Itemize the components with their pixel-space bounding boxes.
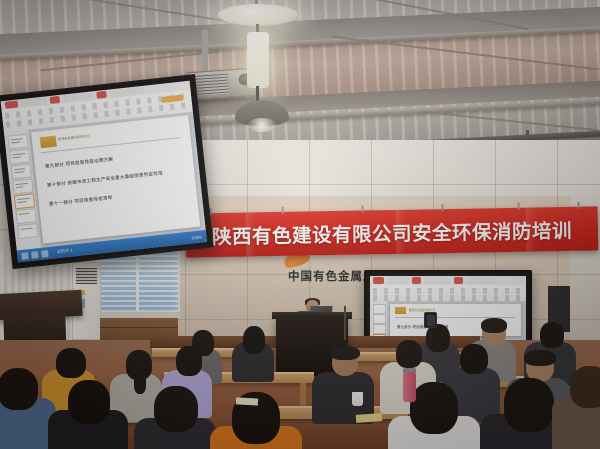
banner-title: 陕西有色建设有限公司安全环保消防培训 xyxy=(186,214,598,250)
event-banner: 陕西有色建设有限公司安全环保消防培训 xyxy=(186,206,599,257)
document-on-desk xyxy=(236,397,258,405)
projection-screen: 陕西有色建设有限公司 第九部分 项目隐患排查治理方案 第十部分 房屋市政工程生产… xyxy=(0,74,214,269)
microphone-stand xyxy=(344,306,346,340)
slide-line-3: 第十一部分 项目隐患排查清单 xyxy=(49,195,113,208)
slide-line-2: 第十部分 房屋市政工程生产安全重大事故隐患判定标准 xyxy=(47,170,163,189)
fluorescent-tube-lamp xyxy=(247,32,269,88)
slide-line-1: 第九部分 项目隐患排查治理方案 xyxy=(45,157,114,170)
wall-signage-text: 中国有色金属工 xyxy=(288,268,376,284)
smartphone-on-tripod xyxy=(424,312,437,328)
slide-logo-icon xyxy=(40,136,57,149)
slide-number-label: 幻灯片 1 xyxy=(57,247,73,255)
paper-cup xyxy=(352,392,363,406)
pendant-disc-lamp xyxy=(218,4,298,26)
thermos-bottle xyxy=(403,372,416,402)
slide-header-text: 陕西有色建设有限公司 xyxy=(58,133,90,141)
slide-editing-area: 陕西有色建设有限公司 第九部分 项目隐患排查治理方案 第十部分 房屋市政工程生产… xyxy=(4,112,206,251)
zoom-level-label: 100% xyxy=(191,234,202,240)
current-slide: 陕西有色建设有限公司 第九部分 项目隐患排查治理方案 第十部分 房屋市政工程生产… xyxy=(31,115,200,243)
training-hall-photo: 中国有色金属工 陕西有色建设有限公司安全环保消防培训 xyxy=(0,0,600,449)
lamp-glow xyxy=(248,118,276,132)
